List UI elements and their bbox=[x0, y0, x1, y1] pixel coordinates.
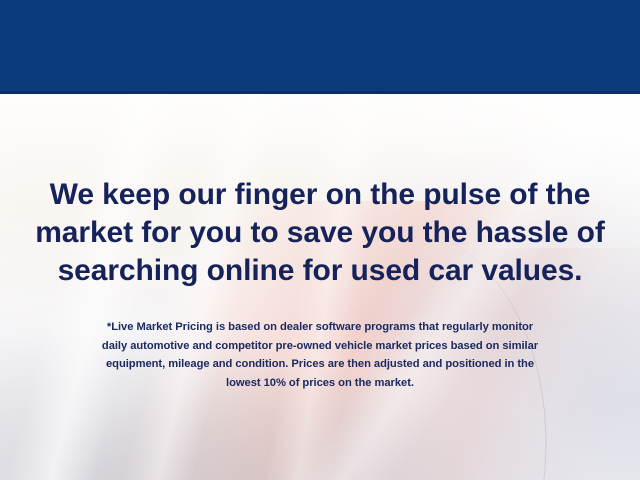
live-market-pricing-banner: Live Market Pricing* We keep our finger … bbox=[0, 0, 640, 480]
headline-line: market for you to save you the hassle of bbox=[0, 214, 640, 252]
header-banner-underline bbox=[0, 91, 640, 94]
headline: We keep our finger on the pulse of the m… bbox=[0, 176, 640, 290]
disclaimer-text: *Live Market Pricing is based on dealer … bbox=[0, 318, 640, 392]
disclaimer-line: daily automotive and competitor pre-owne… bbox=[0, 337, 640, 356]
headline-line: We keep our finger on the pulse of the bbox=[0, 176, 640, 214]
header-banner bbox=[0, 0, 640, 91]
headline-line: searching online for used car values. bbox=[0, 252, 640, 290]
disclaimer-line: *Live Market Pricing is based on dealer … bbox=[0, 318, 640, 337]
disclaimer-line: equipment, mileage and condition. Prices… bbox=[0, 355, 640, 374]
disclaimer-line: lowest 10% of prices on the market. bbox=[0, 374, 640, 393]
